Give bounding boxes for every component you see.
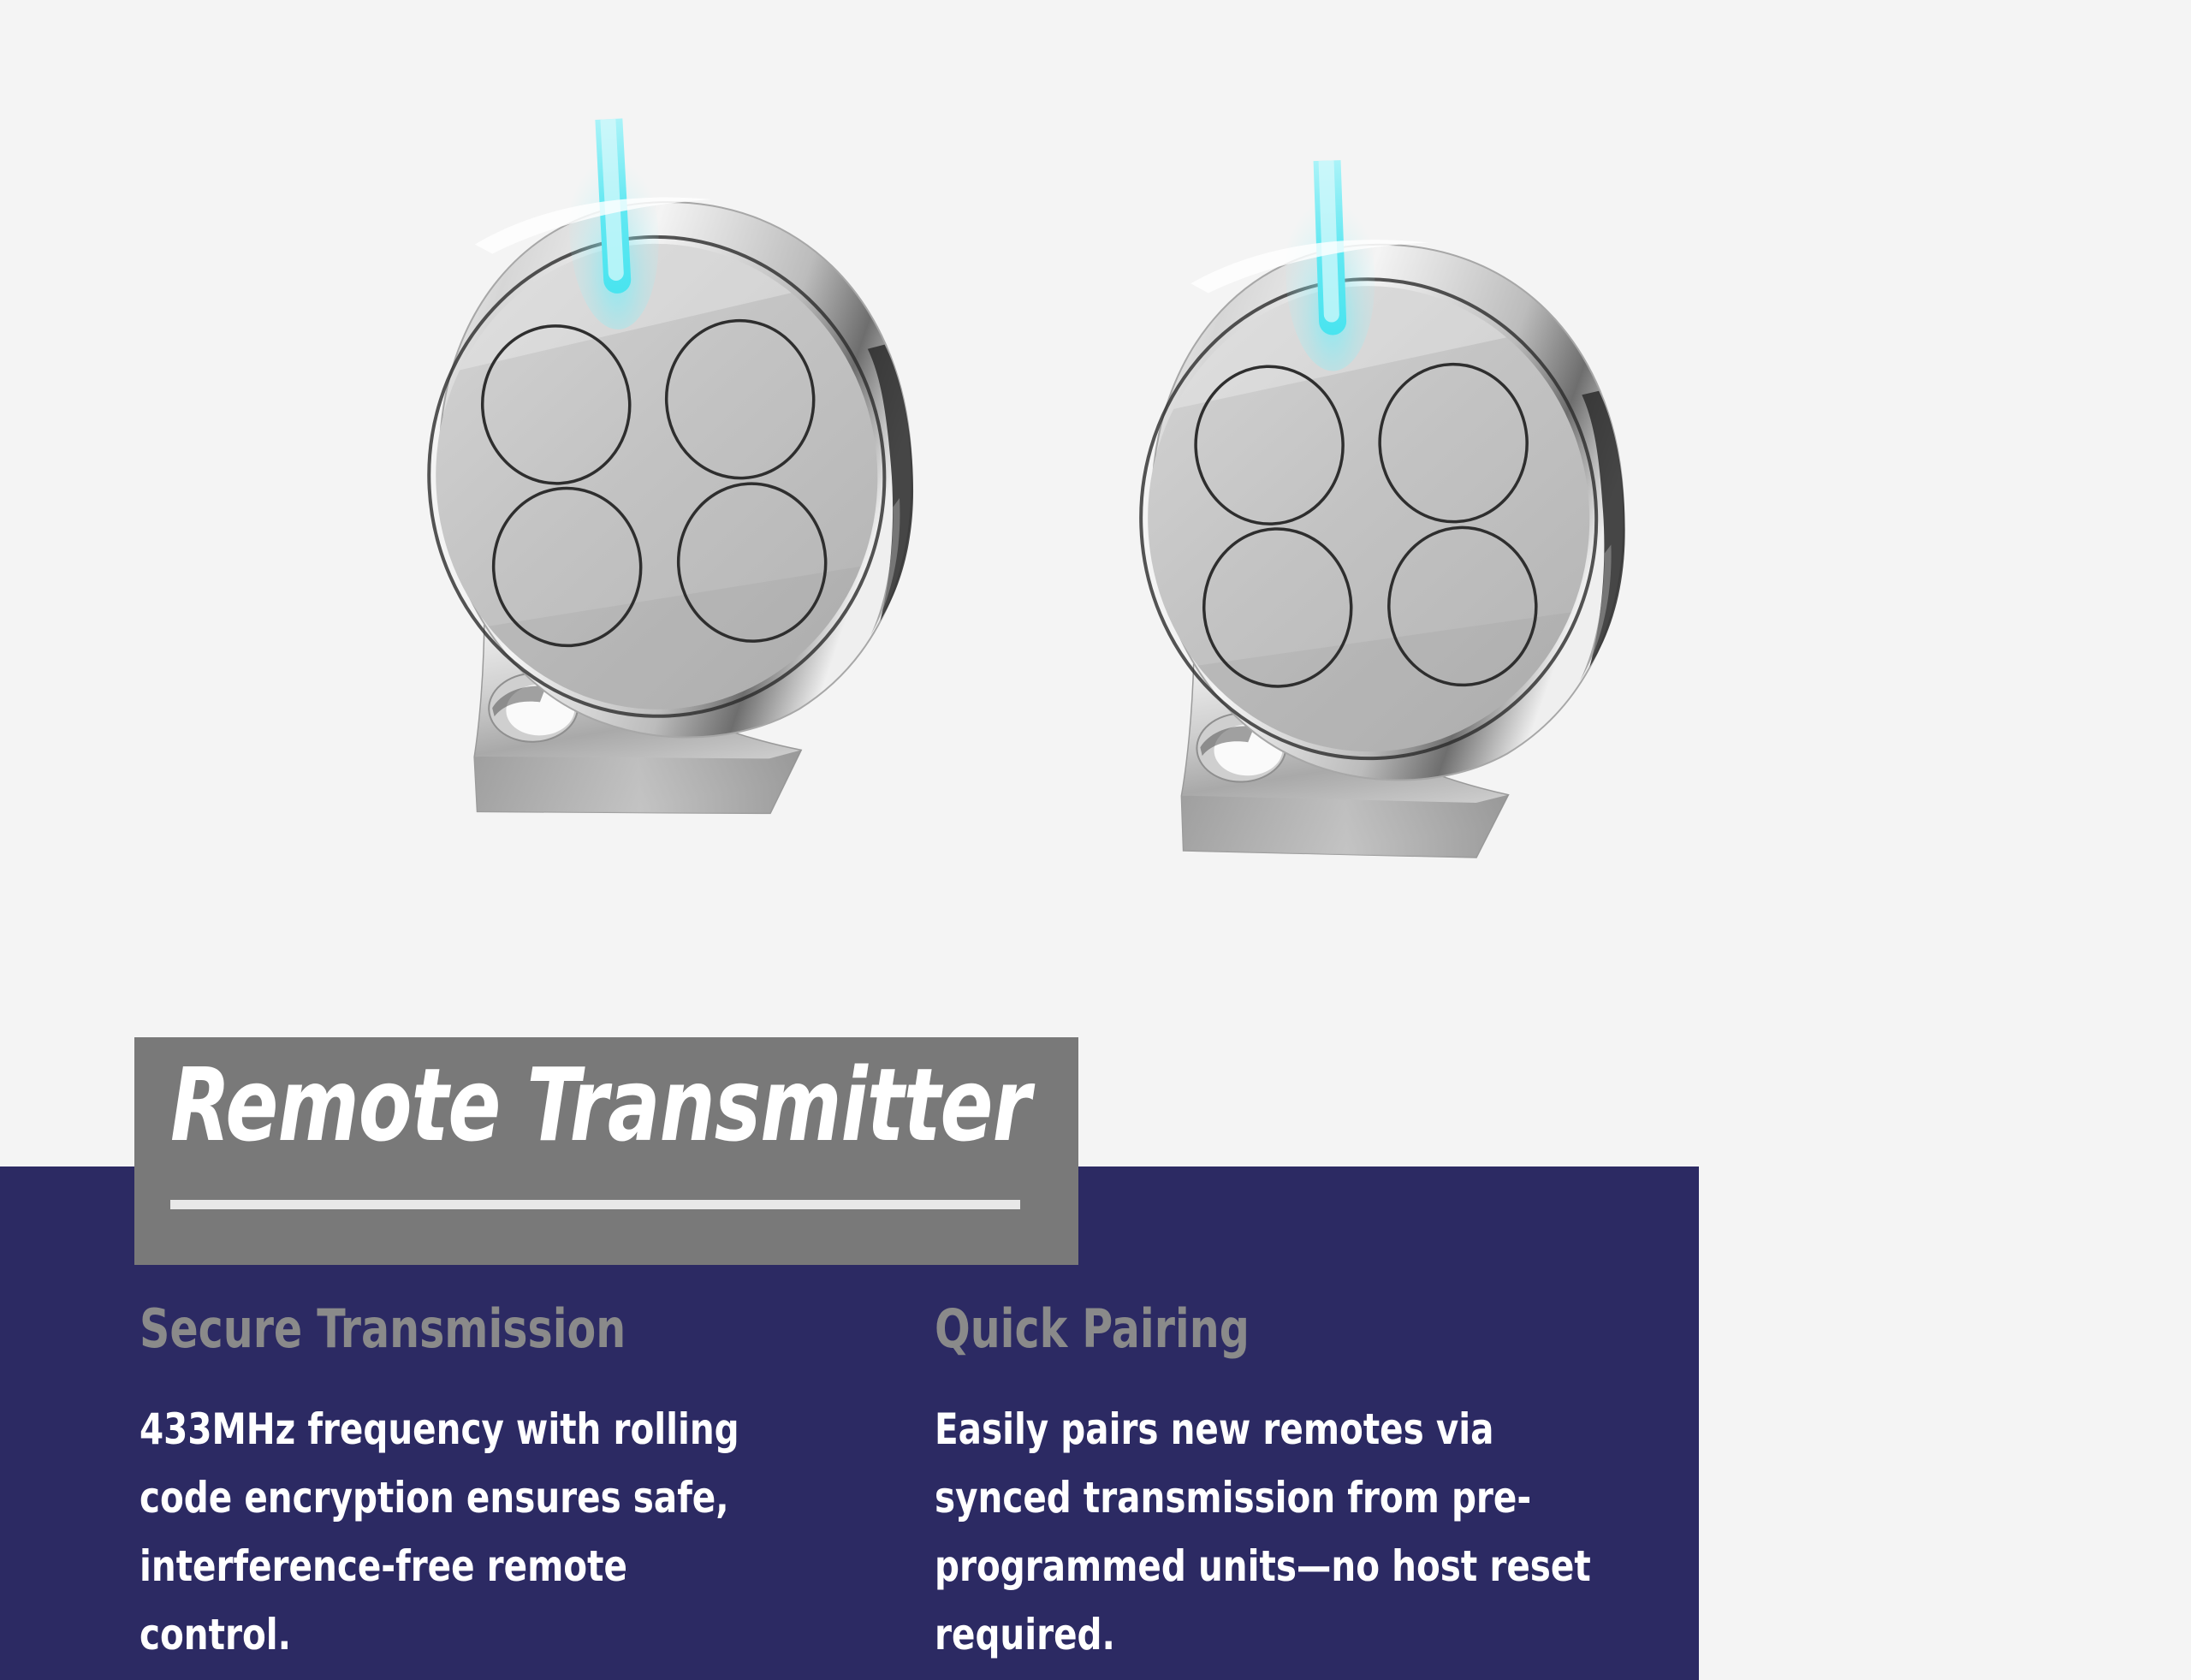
feature-body: Easily pairs new remotes via synced tran…	[935, 1395, 1612, 1669]
feature-heading: Quick Pairing	[935, 1303, 1597, 1356]
remote-unit-left	[367, 126, 1010, 1012]
feature-body: 433MHz frequency with rolling code encry…	[140, 1395, 771, 1669]
page-title: Remote Transmitter	[170, 1048, 1030, 1164]
poster-canvas: Remote Transmitter Secure Transmission 4…	[0, 0, 2191, 1680]
remote-unit-right	[1085, 174, 1713, 1050]
feature-columns: Secure Transmission 433MHz frequency wit…	[0, 1303, 1699, 1662]
feature-column-quick-pairing: Quick Pairing Easily pairs new remotes v…	[935, 1303, 1688, 1669]
feature-column-secure-transmission: Secure Transmission 433MHz frequency wit…	[140, 1303, 841, 1669]
title-banner: Remote Transmitter	[134, 1037, 1078, 1265]
feature-heading: Secure Transmission	[140, 1303, 757, 1356]
title-underline-rule	[170, 1200, 1020, 1209]
